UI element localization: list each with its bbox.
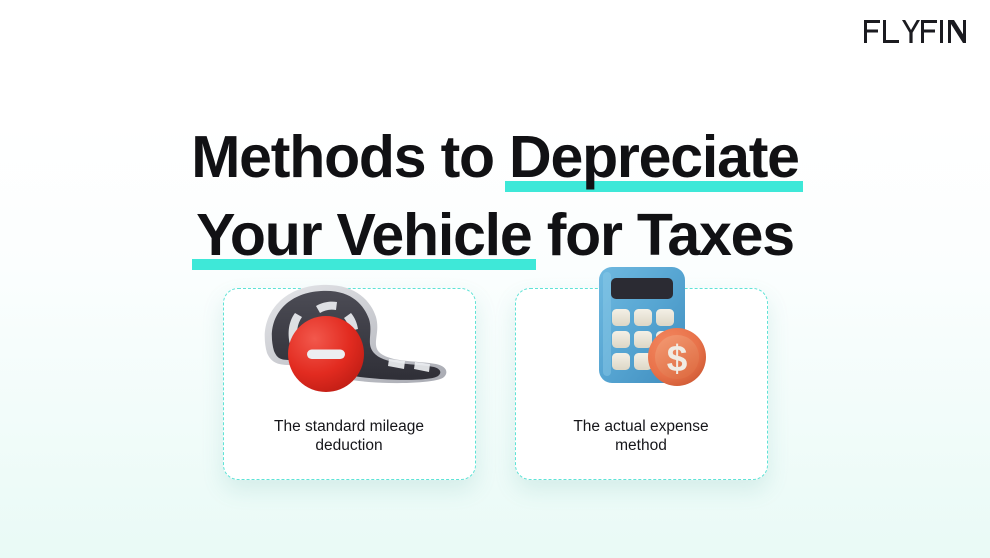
- title-line1-prefix: Methods to: [191, 124, 509, 190]
- page-title: Methods to Depreciate Your Vehicle for T…: [0, 118, 990, 274]
- caption-line-2: method: [615, 437, 667, 454]
- logo-letter-l: [883, 20, 900, 43]
- card-standard-mileage[interactable]: The standard mileage deduction: [223, 288, 476, 480]
- title-line-1: Methods to Depreciate: [0, 118, 990, 196]
- caption-line-1: The actual expense: [573, 418, 708, 435]
- flyfin-logo: [864, 20, 966, 43]
- slide-canvas: Methods to Depreciate Your Vehicle for T…: [0, 0, 990, 558]
- card-actual-expense[interactable]: $ The actual expense method: [515, 288, 768, 480]
- method-card-group: The standard mileage deduction: [0, 288, 990, 480]
- caption-line-2: deduction: [315, 437, 382, 454]
- title-line1-highlight: Depreciate: [509, 118, 799, 196]
- caption-line-1: The standard mileage: [274, 418, 424, 435]
- title-line2-suffix: for Taxes: [532, 202, 794, 268]
- logo-letter-y: [902, 20, 919, 43]
- logo-letter-f1: [864, 20, 881, 43]
- title-line-2: Your Vehicle for Taxes: [0, 196, 990, 274]
- svg-text:$: $: [667, 338, 688, 379]
- winding-road-with-minus-badge-icon: [224, 261, 477, 396]
- calculator-with-dollar-coin-icon: $: [516, 261, 769, 396]
- logo-letter-i: [940, 20, 946, 43]
- logo-letter-n: [948, 20, 966, 43]
- title-line2-highlight: Your Vehicle: [196, 196, 531, 274]
- logo-letter-f2: [921, 20, 938, 43]
- card-caption-actual-expense: The actual expense method: [530, 417, 753, 455]
- card-caption-standard-mileage: The standard mileage deduction: [238, 417, 461, 455]
